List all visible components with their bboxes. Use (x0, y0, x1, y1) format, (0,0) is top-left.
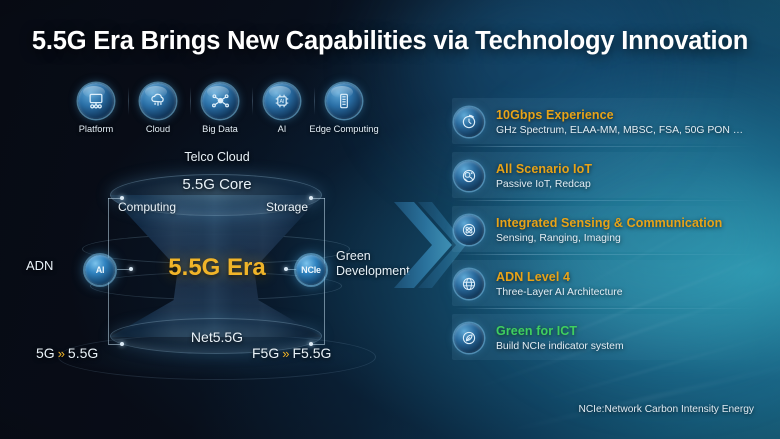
label-5-5g-era: 5.5G Era (168, 254, 265, 282)
cloud-icon (140, 83, 176, 119)
top-icon-ai[interactable]: AI AI (264, 83, 300, 119)
row-divider (456, 146, 756, 147)
top-icon-label: Big Data (202, 124, 238, 134)
evolution-to: 5.5G (68, 345, 98, 361)
icon-divider (190, 87, 191, 115)
capability-text: ADN Level 4 Three-Layer AI Architecture (496, 270, 622, 298)
green-development-line1: Green (336, 249, 371, 263)
sensing-radar-icon (454, 215, 484, 245)
label-5-5g-core: 5.5G Core (182, 176, 251, 193)
capability-text: 10Gbps Experience GHz Spectrum, ELAA-MM,… (496, 108, 743, 136)
icon-divider (252, 87, 253, 115)
capability-heading: 10Gbps Experience (496, 108, 743, 122)
label-green-development: Green Development (336, 249, 410, 279)
capability-sub: Passive IoT, Redcap (496, 179, 592, 190)
iot-network-icon (454, 161, 484, 191)
page-title: 5.5G Era Brings New Capabilities via Tec… (0, 27, 780, 56)
chevron-right-icon: » (279, 346, 292, 361)
capability-sub: GHz Spectrum, ELAA-MM, MBSC, FSA, 50G PO… (496, 125, 743, 136)
label-storage: Storage (266, 200, 308, 214)
connector-dot (309, 196, 313, 200)
icon-divider (314, 87, 315, 115)
label-net5-5g: Net5.5G (191, 329, 243, 345)
label-adn: ADN (26, 258, 53, 273)
capability-heading: Integrated Sensing & Communication (496, 216, 722, 230)
capability-sub: Sensing, Ranging, Imaging (496, 233, 722, 244)
top-icon-label: Cloud (146, 124, 170, 134)
capability-row-10gbps[interactable]: 10Gbps Experience GHz Spectrum, ELAA-MM,… (452, 96, 764, 148)
top-icon-platform[interactable]: Platform (78, 83, 114, 119)
row-divider (456, 200, 756, 201)
green-development-line2: Development (336, 264, 410, 278)
evolution-to: F5.5G (292, 345, 331, 361)
capability-sub: Build NCIe indicator system (496, 341, 624, 352)
top-icon-label: AI (278, 124, 287, 134)
row-divider (456, 254, 756, 255)
badge-ai[interactable]: AI (85, 255, 115, 285)
top-icon-big-data[interactable]: Big Data (202, 83, 238, 119)
evolution-from: 5G (36, 345, 55, 361)
capability-row-integrated-sensing[interactable]: Integrated Sensing & Communication Sensi… (452, 204, 764, 256)
capability-heading: ADN Level 4 (496, 270, 622, 284)
connector-line (108, 288, 109, 344)
background-streak (504, 355, 780, 434)
footnote-ncie: NCIe:Network Carbon Intensity Energy (578, 404, 754, 415)
ai-chip-icon: AI (264, 83, 300, 119)
leaf-icon (454, 323, 484, 353)
capability-text: Green for ICT Build NCIe indicator syste… (496, 324, 624, 352)
technology-icon-row: Platform Cloud Big Data (78, 83, 368, 139)
big-data-nodes-icon (202, 83, 238, 119)
row-divider (456, 308, 756, 309)
label-telco-cloud: Telco Cloud (184, 150, 249, 164)
capability-row-all-scenario-iot[interactable]: All Scenario IoT Passive IoT, Redcap (452, 150, 764, 202)
capability-sub: Three-Layer AI Architecture (496, 287, 622, 298)
top-icon-label: Edge Computing (309, 124, 378, 134)
chevron-right-icon: » (55, 346, 68, 361)
top-icon-edge-computing[interactable]: Edge Computing (326, 83, 362, 119)
capability-row-adn-level-4[interactable]: ADN Level 4 Three-Layer AI Architecture (452, 258, 764, 310)
evolution-from: F5G (252, 345, 279, 361)
connector-dot (129, 267, 133, 271)
speed-gauge-icon (454, 107, 484, 137)
badge-ncie[interactable]: NCIe (296, 255, 326, 285)
capability-row-green-for-ict[interactable]: Green for ICT Build NCIe indicator syste… (452, 312, 764, 364)
top-icon-label: Platform (79, 124, 114, 134)
capability-heading: All Scenario IoT (496, 162, 592, 176)
capability-panel: 10Gbps Experience GHz Spectrum, ELAA-MM,… (452, 96, 764, 362)
platform-monitor-icon (78, 83, 114, 119)
label-computing: Computing (118, 200, 176, 214)
globe-ai-icon (454, 269, 484, 299)
connector-line (311, 198, 325, 199)
top-icon-cloud[interactable]: Cloud (140, 83, 176, 119)
connector-dot (120, 342, 124, 346)
svg-text:AI: AI (279, 99, 284, 105)
slide-canvas: 5.5G Era Brings New Capabilities via Tec… (0, 0, 780, 439)
edge-device-icon (326, 83, 362, 119)
capability-heading: Green for ICT (496, 324, 624, 338)
capability-text: All Scenario IoT Passive IoT, Redcap (496, 162, 592, 190)
connector-dot (284, 267, 288, 271)
icon-divider (128, 87, 129, 115)
capability-text: Integrated Sensing & Communication Sensi… (496, 216, 722, 244)
evolution-f5g: F5G»F5.5G (252, 345, 331, 361)
connector-line (324, 288, 325, 344)
evolution-5g: 5G»5.5G (36, 345, 98, 361)
